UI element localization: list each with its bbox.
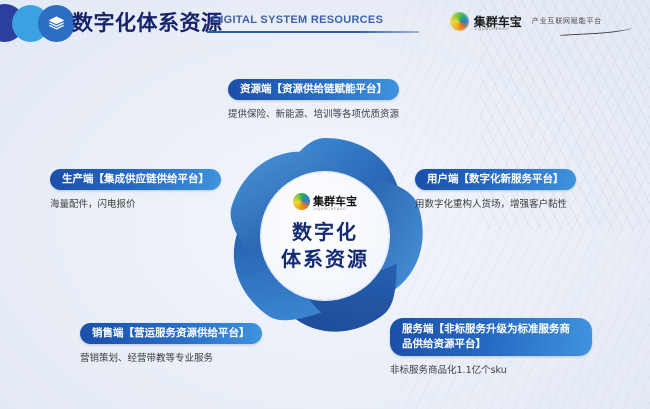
node-production-desc: 海量配件，闪电报价 [50, 196, 221, 210]
node-resource-label[interactable]: 资源端【资源供给链赋能平台】 [228, 79, 399, 100]
page-title: 数字化体系资源 [72, 7, 223, 37]
node-sales-desc: 营销策划、经营带教等专业服务 [80, 350, 262, 364]
node-resource-desc: 提供保险、新能源、培训等各项优质资源 [228, 106, 399, 120]
node-user-desc: 用数字化重构人货场，增强客户黏性 [415, 196, 576, 210]
node-service-label[interactable]: 服务端【非标服务升级为标准服务商品供给资源平台】 [390, 318, 592, 356]
page-subtitle: DIGITAL SYSTEM RESOURCES [212, 14, 383, 26]
node-service[interactable]: 服务端【非标服务升级为标准服务商品供给资源平台】 非标服务商品化1.1亿个sku [390, 318, 592, 376]
globe-icon [450, 12, 469, 31]
center-title-line2: 体系资源 [281, 249, 369, 269]
node-user-label[interactable]: 用户端【数字化新服务平台】 [415, 169, 576, 190]
globe-icon [293, 193, 310, 210]
node-sales[interactable]: 销售端【营运服务资源供给平台】 营销策划、经营带教等专业服务 [80, 323, 262, 364]
brand-tagline: 产业互联网赋能平台 [532, 16, 602, 26]
center-core-circle: 集群车宝 JIQUNCHEBAO 数字化 体系资源 [261, 172, 389, 300]
center-brand-logo: 集群车宝 JIQUNCHEBAO [293, 192, 357, 210]
brand-pinyin: JIQUNCHEBAO [474, 26, 510, 31]
center-title-line1: 数字化 [292, 222, 358, 242]
title-underline [207, 31, 419, 33]
node-sales-label[interactable]: 销售端【营运服务资源供给平台】 [80, 323, 262, 344]
node-resource[interactable]: 资源端【资源供给链赋能平台】 提供保险、新能源、培训等各项优质资源 [228, 79, 399, 120]
center-brand-pinyin: JIQUNCHEBAO [313, 207, 347, 211]
node-production[interactable]: 生产端【集成供应链供给平台】 海量配件，闪电报价 [50, 169, 221, 210]
node-user[interactable]: 用户端【数字化新服务平台】 用数字化重构人货场，增强客户黏性 [415, 169, 576, 210]
layers-icon [47, 14, 66, 33]
slide-canvas: 数字化体系资源 DIGITAL SYSTEM RESOURCES 集群车宝 JI… [0, 0, 650, 409]
logo-circle-blue [38, 5, 75, 42]
page-header: 数字化体系资源 DIGITAL SYSTEM RESOURCES 集群车宝 JI… [0, 0, 650, 45]
node-production-label[interactable]: 生产端【集成供应链供给平台】 [50, 169, 221, 190]
node-service-desc: 非标服务商品化1.1亿个sku [390, 362, 592, 376]
